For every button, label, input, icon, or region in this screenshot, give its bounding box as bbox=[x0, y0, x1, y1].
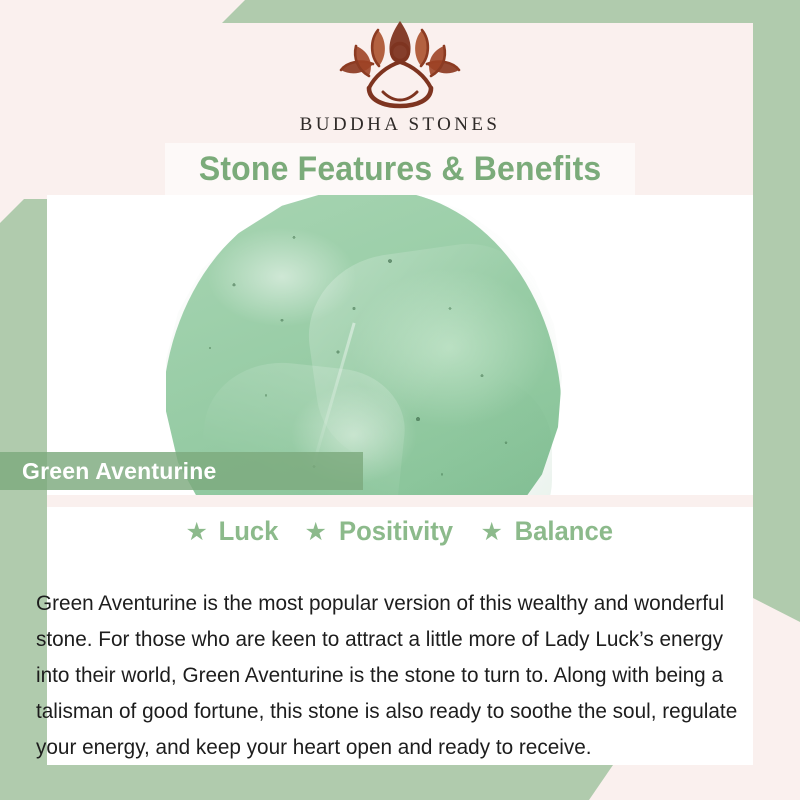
stone-name-label: Green Aventurine bbox=[22, 458, 217, 485]
keyword-item-balance: ★ Balance bbox=[480, 516, 616, 547]
stone-info-card: BUDDHA STONES Stone Features & Benefits … bbox=[0, 0, 800, 800]
keywords-row: ★ Luck ★ Positivity ★ Balance bbox=[47, 516, 753, 547]
stone-speckle-texture bbox=[162, 195, 562, 495]
stone-description-text: Green Aventurine is the most popular ver… bbox=[36, 585, 739, 765]
stone-description-panel: ★ Luck ★ Positivity ★ Balance Green Aven… bbox=[47, 507, 753, 765]
star-icon: ★ bbox=[480, 520, 504, 544]
brand-logo: BUDDHA STONES bbox=[0, 18, 800, 136]
page-title: Stone Features & Benefits bbox=[199, 150, 602, 189]
stone-photo-area bbox=[47, 195, 753, 495]
brand-name: BUDDHA STONES bbox=[0, 114, 800, 136]
lotus-meditation-logo-icon bbox=[325, 18, 475, 110]
keyword-label: Positivity bbox=[339, 516, 453, 547]
stone-name-bar: Green Aventurine bbox=[0, 452, 363, 490]
keyword-item-positivity: ★ Positivity bbox=[304, 516, 456, 547]
section-title-banner: Stone Features & Benefits bbox=[165, 143, 635, 195]
star-icon: ★ bbox=[304, 520, 328, 544]
green-aventurine-stone-image bbox=[162, 195, 562, 495]
star-icon: ★ bbox=[185, 520, 209, 544]
header: BUDDHA STONES bbox=[0, 0, 800, 146]
frame-band-bottom bbox=[0, 765, 613, 800]
keyword-label: Balance bbox=[514, 516, 612, 547]
keyword-label: Luck bbox=[218, 516, 278, 547]
keyword-item-luck: ★ Luck bbox=[185, 516, 280, 547]
